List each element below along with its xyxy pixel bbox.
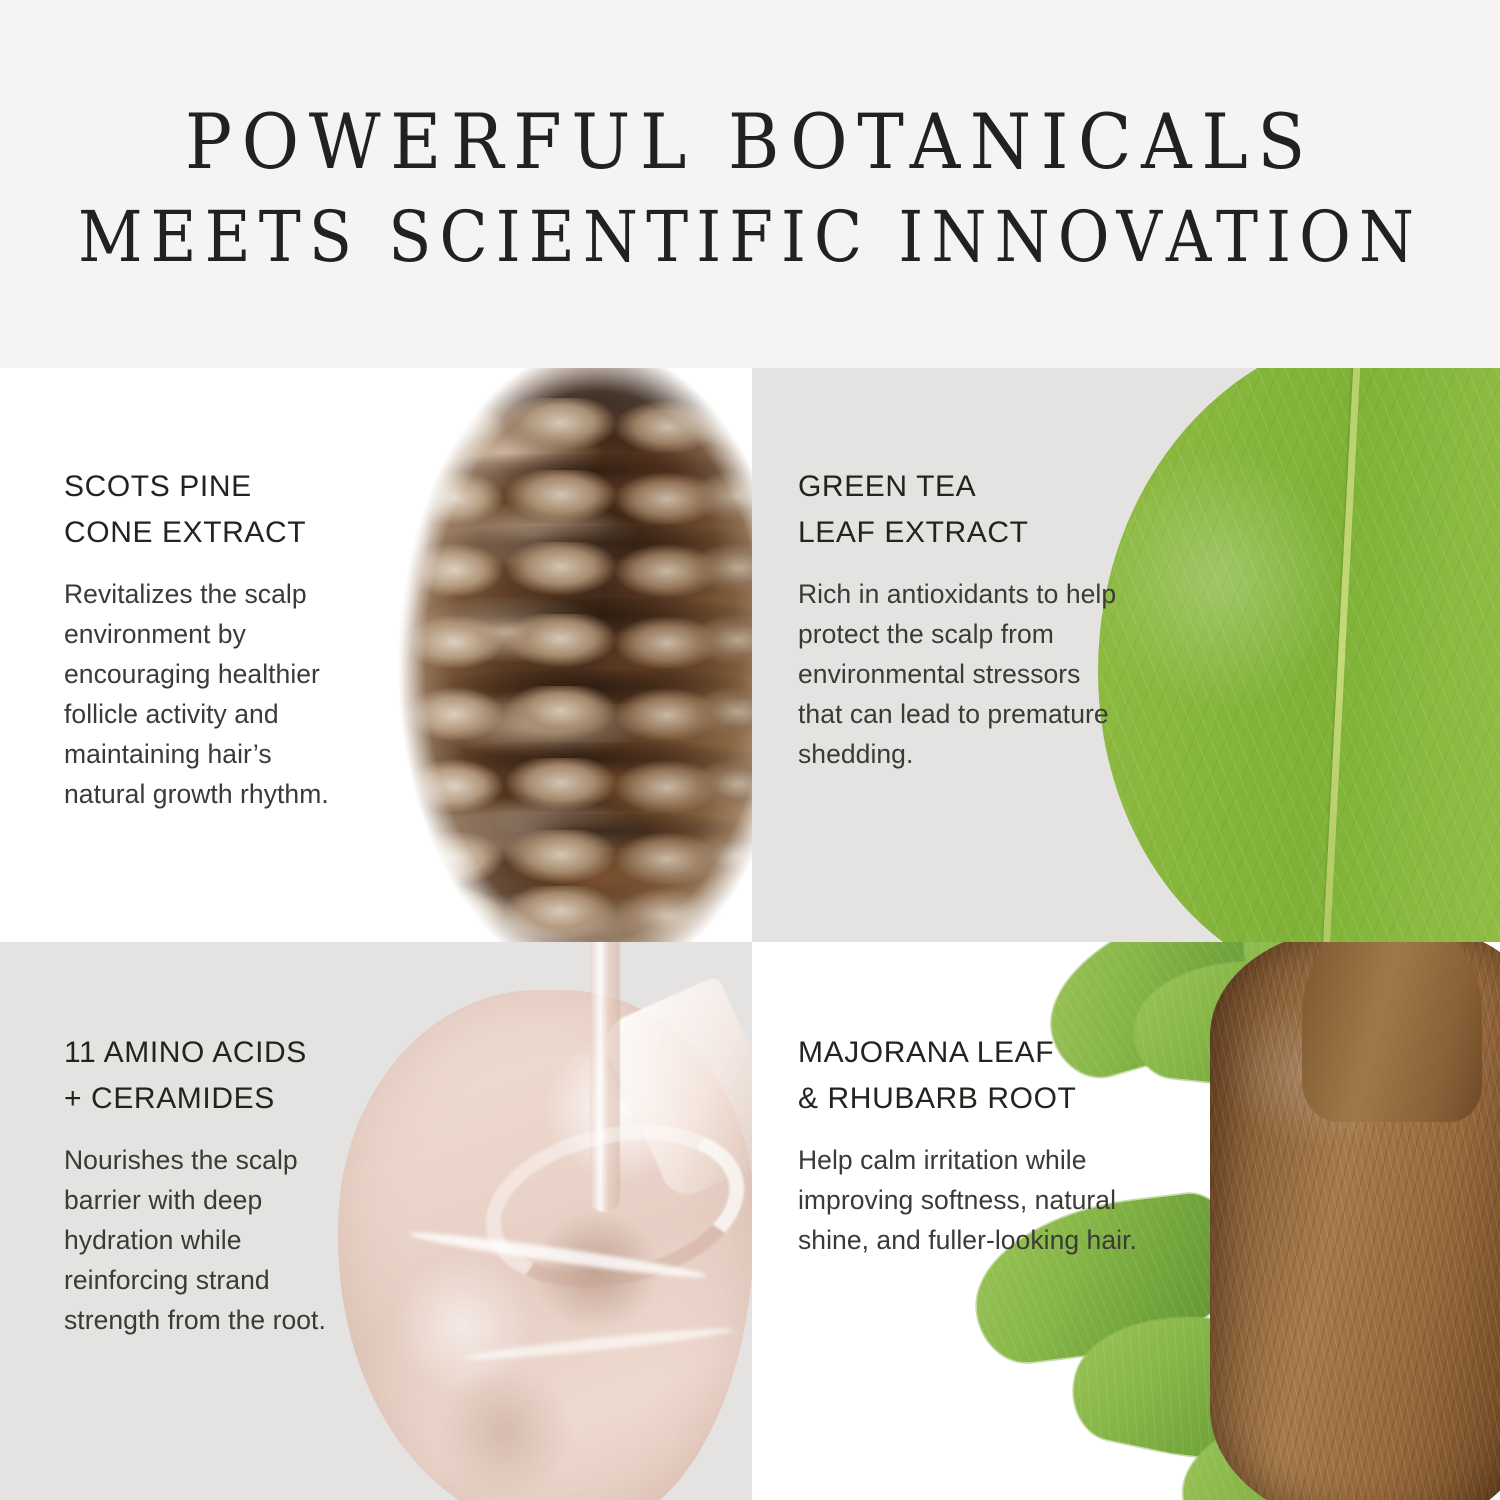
panel-amino-acids-copy: 11 AMINO ACIDS + CERAMIDES Nourishes the… — [64, 1030, 364, 1340]
panel-green-tea-title: GREEN TEA LEAF EXTRACT — [798, 464, 1178, 556]
panel-majorana-rhubarb-body: Help calm irritation while improving sof… — [798, 1140, 1198, 1260]
panel-majorana-rhubarb: MAJORANA LEAF & RHUBARB ROOT Help calm i… — [752, 942, 1500, 1500]
panel-green-tea-copy: GREEN TEA LEAF EXTRACT Rich in antioxida… — [798, 464, 1178, 774]
panel-green-tea: GREEN TEA LEAF EXTRACT Rich in antioxida… — [752, 368, 1500, 942]
header-band: POWERFUL BOTANICALS MEETS SCIENTIFIC INN… — [0, 0, 1500, 368]
panel-scots-pine-title: SCOTS PINE CONE EXTRACT — [64, 464, 384, 556]
serum-gel-image — [352, 942, 752, 1500]
panel-amino-acids-title: 11 AMINO ACIDS + CERAMIDES — [64, 1030, 364, 1122]
panel-scots-pine-copy: SCOTS PINE CONE EXTRACT Revitalizes the … — [64, 464, 384, 814]
panel-majorana-rhubarb-title: MAJORANA LEAF & RHUBARB ROOT — [798, 1030, 1198, 1122]
panel-amino-acids: 11 AMINO ACIDS + CERAMIDES Nourishes the… — [0, 942, 752, 1500]
pine-cone-image — [390, 368, 752, 942]
ingredient-benefits-infographic: POWERFUL BOTANICALS MEETS SCIENTIFIC INN… — [0, 0, 1500, 1500]
panel-majorana-rhubarb-copy: MAJORANA LEAF & RHUBARB ROOT Help calm i… — [798, 1030, 1198, 1260]
headline-primary: POWERFUL BOTANICALS — [60, 97, 1440, 186]
panel-scots-pine-body: Revitalizes the scalp environment by enc… — [64, 574, 384, 814]
panel-scots-pine: SCOTS PINE CONE EXTRACT Revitalizes the … — [0, 368, 752, 942]
panel-green-tea-body: Rich in antioxidants to help protect the… — [798, 574, 1178, 774]
headline-secondary: MEETS SCIENTIFIC INNOVATION — [75, 196, 1425, 278]
panel-amino-acids-body: Nourishes the scalp barrier with deep hy… — [64, 1140, 364, 1340]
